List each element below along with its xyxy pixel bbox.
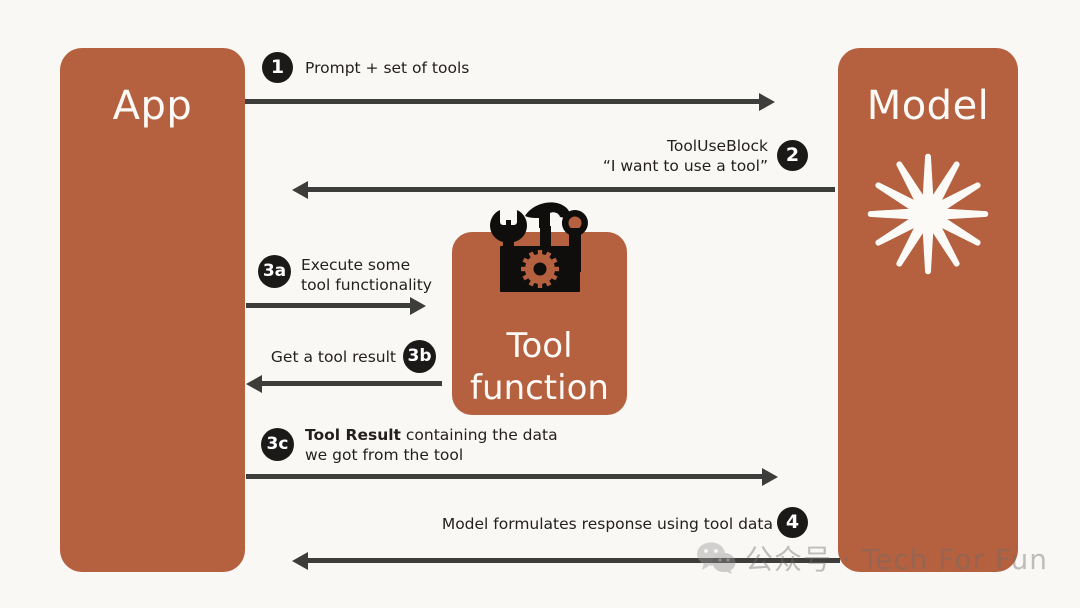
arrow-step-2: [292, 185, 835, 194]
actor-model-label: Model: [867, 86, 990, 126]
actor-app-label: App: [113, 86, 193, 126]
tool-function-label-line1: Tool: [506, 325, 572, 367]
step-caption-2-line1: ToolUseBlock: [667, 137, 768, 155]
step-caption-3b: Get a tool result: [252, 347, 396, 367]
arrow-step-3c: [246, 472, 778, 481]
diagram-canvas: App Model: [0, 0, 1080, 608]
anthropic-starburst-icon: [862, 148, 994, 280]
arrow-step-3b: [246, 379, 442, 388]
step-badge-2: 2: [777, 140, 808, 171]
arrow-step-4: [292, 556, 840, 565]
step-caption-2: ToolUseBlock“I want to use a tool”: [548, 136, 768, 177]
step-caption-3a-line2: tool functionality: [301, 276, 432, 294]
step-badge-1: 1: [262, 52, 293, 83]
step-badge-4: 4: [777, 507, 808, 538]
actor-app: App: [60, 48, 245, 572]
step-badge-3c: 3c: [261, 428, 294, 461]
step-caption-3c-strong: Tool Result: [305, 426, 401, 444]
step-caption-3a: Execute sometool functionality: [301, 255, 432, 296]
step-badge-3a: 3a: [258, 255, 291, 288]
arrow-step-3a: [246, 301, 426, 310]
step-caption-3a-line1: Execute some: [301, 256, 410, 274]
step-caption-4: Model formulates response using tool dat…: [420, 514, 773, 534]
actor-model: Model: [838, 48, 1018, 572]
step-caption-1: Prompt + set of tools: [305, 58, 469, 78]
step-caption-3c-line2: we got from the tool: [305, 446, 463, 464]
arrow-step-1: [245, 97, 775, 106]
step-badge-3b: 3b: [403, 340, 436, 373]
tool-function-label-line2: function: [470, 367, 609, 409]
toolbox-icon: [480, 198, 598, 308]
step-caption-3c-rest: containing the data: [401, 426, 558, 444]
step-caption-3c: Tool Result containing the datawe got fr…: [305, 425, 558, 466]
step-caption-2-line2: “I want to use a tool”: [603, 157, 768, 175]
